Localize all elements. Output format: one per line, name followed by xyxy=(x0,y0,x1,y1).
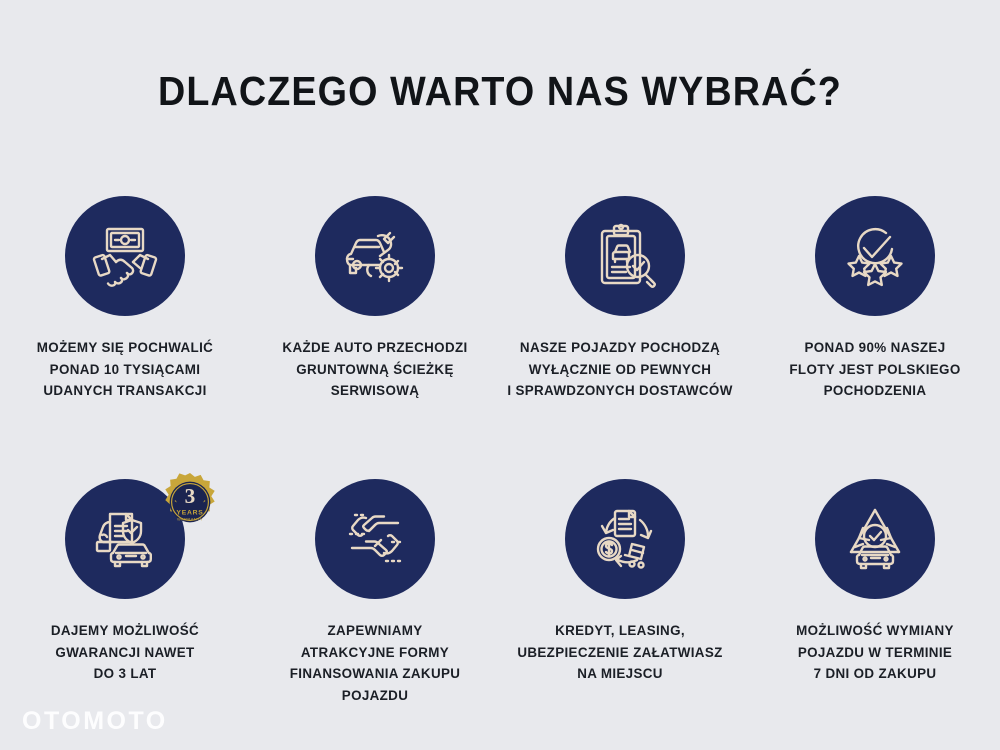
icon-badge xyxy=(315,196,435,316)
benefits-grid: MOŻEMY SIĘ POCHWALIĆ PONAD 10 TYSIĄCAMI … xyxy=(0,196,1000,750)
hands-exchange-keys-icon xyxy=(338,502,412,576)
benefit-card-credit-leasing: KREDYT, LEASING, UBEZPIECZENIE ZAŁATWIAS… xyxy=(500,479,750,750)
clipboard-car-inspection-icon xyxy=(588,219,662,293)
benefit-caption: KAŻDE AUTO PRZECHODZI GRUNTOWNĄ ŚCIEŻKĘ … xyxy=(250,337,500,402)
icon-circle xyxy=(815,479,935,599)
icon-badge xyxy=(565,479,685,599)
icon-badge xyxy=(65,196,185,316)
benefit-caption: KREDYT, LEASING, UBEZPIECZENIE ZAŁATWIAS… xyxy=(485,620,755,685)
benefit-card-transactions: MOŻEMY SIĘ POCHWALIĆ PONAD 10 TYSIĄCAMI … xyxy=(0,196,250,479)
promo-infographic: DLACZEGO WARTO NAS WYBRAĆ? xyxy=(0,0,1000,750)
benefit-caption: DAJEMY MOŻLIWOŚĆ GWARANCJI NAWET DO 3 LA… xyxy=(0,620,250,685)
icon-circle xyxy=(315,479,435,599)
seal-number: 3 xyxy=(185,484,196,508)
icon-circle xyxy=(65,196,185,316)
benefit-caption: ZAPEWNIAMY ATRAKCYJNE FORMY FINANSOWANIA… xyxy=(250,620,500,707)
handshake-money-icon xyxy=(88,219,162,293)
page-title: DLACZEGO WARTO NAS WYBRAĆ? xyxy=(40,68,960,115)
benefit-card-financing: ZAPEWNIAMY ATRAKCYJNE FORMY FINANSOWANIA… xyxy=(250,479,500,750)
benefit-card-suppliers: NASZE POJAZDY POCHODZĄ WYŁĄCZNIE OD PEWN… xyxy=(500,196,750,479)
icon-badge xyxy=(565,196,685,316)
icon-circle xyxy=(815,196,935,316)
benefit-caption: PONAD 90% NASZEJ FLOTY JEST POLSKIEGO PO… xyxy=(750,337,1000,402)
benefit-caption: NASZE POJAZDY POCHODZĄ WYŁĄCZNIE OD PEWN… xyxy=(485,337,755,402)
icon-badge xyxy=(815,196,935,316)
benefit-card-service: KAŻDE AUTO PRZECHODZI GRUNTOWNĄ ŚCIEŻKĘ … xyxy=(250,196,500,479)
finance-cycle-icon xyxy=(588,502,662,576)
otomoto-watermark: OTOMOTO xyxy=(22,707,168,736)
car-service-wrench-gear-icon xyxy=(338,219,412,293)
icon-badge xyxy=(315,479,435,599)
icon-badge xyxy=(815,479,935,599)
icon-circle xyxy=(315,196,435,316)
benefit-caption: MOŻLIWOŚĆ WYMIANY POJAZDU W TERMINIE 7 D… xyxy=(750,620,1000,685)
seal-warranty-label: WARRANTY xyxy=(177,516,203,521)
benefit-card-exchange: MOŻLIWOŚĆ WYMIANY POJAZDU W TERMINIE 7 D… xyxy=(750,479,1000,750)
icon-badge: 3 YEARS WARRANTY xyxy=(65,479,185,599)
benefit-caption: MOŻEMY SIĘ POCHWALIĆ PONAD 10 TYSIĄCAMI … xyxy=(0,337,250,402)
benefit-card-fleet-origin: PONAD 90% NASZEJ FLOTY JEST POLSKIEGO PO… xyxy=(750,196,1000,479)
warranty-seal-badge: 3 YEARS WARRANTY xyxy=(159,471,221,533)
icon-circle xyxy=(565,196,685,316)
icon-circle xyxy=(565,479,685,599)
check-stars-quality-icon xyxy=(838,219,912,293)
warranty-document-car-icon xyxy=(88,502,162,576)
car-exchange-check-icon xyxy=(838,502,912,576)
